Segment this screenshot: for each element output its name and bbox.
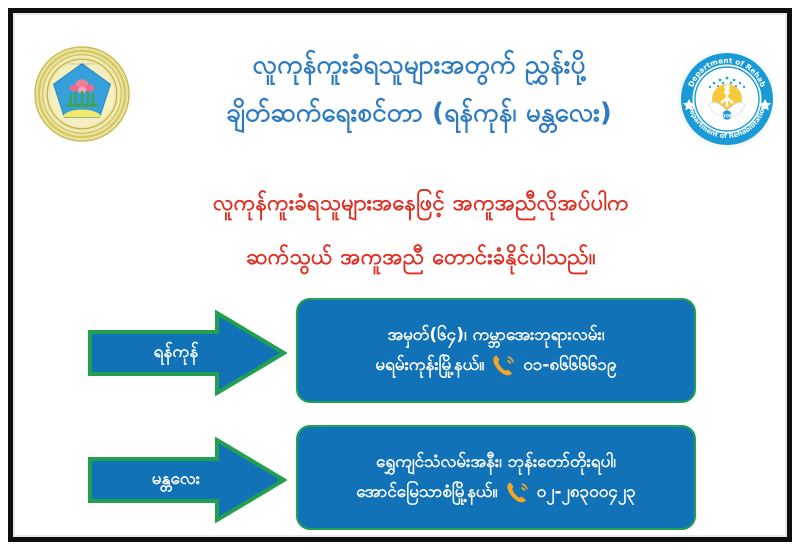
arrow-label-yangon: ရန်ကုန်: [111, 310, 241, 396]
phone-icon: [491, 353, 516, 378]
page-subtitle: လူကုန်ကူးခံရသူများအနေဖြင့် အကူအညီလိုအပ်ပ…: [81, 177, 761, 285]
myanmar-government-seal-icon: •••••••••••••: [33, 45, 131, 145]
address-card-yangon: အမှတ်(၆၄)၊ ကမ္ဘာအေးဘုရားလမ်း၊ မရမ်းကုန်း…: [296, 298, 696, 403]
phone-icon: [505, 480, 530, 505]
poster-frame-inner: •••••••••••••: [13, 13, 787, 537]
title-line-2: ချိတ်ဆက်ရေးစင်တာ (ရန်ကုန်၊ မန္တလေး): [139, 89, 699, 137]
arrow-right-icon-yangon: ရန်ကုန်: [87, 310, 287, 396]
address-line-2-with-phone: မရမ်းကုန်းမြို့နယ်။ ၀၁-၈၆၆၆၆၁၉: [375, 353, 616, 378]
arrow-label-mandalay: မန္တလေး: [111, 437, 241, 523]
address-line-2: အောင်မြေသာစံမြို့နယ်။: [356, 480, 497, 505]
page-title: လူကုန်ကူးခံရသူများအတွက် ညွှန်းပို့ ချိတ်…: [139, 41, 699, 137]
poster-root: •••••••••••••: [0, 0, 800, 550]
arrow-right-icon-mandalay: မန္တလေး: [87, 437, 287, 523]
subtitle-line-1: လူကုန်ကူးခံရသူများအနေဖြင့် အကူအညီလိုအပ်ပ…: [81, 177, 761, 231]
address-line-2: မရမ်းကုန်းမြို့နယ်။: [375, 353, 484, 378]
phone-number-mandalay[interactable]: ၀၂-၂၈၃၀၀၄၂၃: [537, 480, 636, 505]
poster-frame: •••••••••••••: [8, 8, 792, 542]
address-line-1: အမှတ်(၆၄)၊ ကမ္ဘာအေးဘုရားလမ်း၊: [387, 323, 604, 348]
address-line-1: ရွှေကျင်သံလမ်းအနီး၊ ဘုန်းတော်တိုးရပါ၊: [376, 450, 616, 475]
address-card-mandalay: ရွှေကျင်သံလမ်းအနီး၊ ဘုန်းတော်တိုးရပါ၊ အေ…: [296, 425, 696, 530]
poster-canvas: •••••••••••••: [21, 15, 785, 535]
subtitle-line-2: ဆက်သွယ် အကူအညီ တောင်းခံနိုင်ပါသည်။: [81, 231, 761, 285]
title-line-1: လူကုန်ကူးခံရသူများအတွက် ညွှန်းပို့: [139, 41, 699, 89]
contact-row-mandalay: မန္တလေး ရွှေကျင်သံလမ်းအနီး၊ ဘုန်းတော်တို…: [21, 425, 785, 535]
contact-row-yangon: ရန်ကုန် အမှတ်(၆၄)၊ ကမ္ဘာအေးဘုရားလမ်း၊ မရ…: [21, 298, 785, 408]
seal-center-label: DOR: [722, 113, 733, 119]
address-line-2-with-phone: အောင်မြေသာစံမြို့နယ်။ ၀၂-၂၈၃၀၀၄၂၃: [356, 480, 636, 505]
phone-number-yangon[interactable]: ၀၁-၈၆၆၆၆၁၉: [523, 353, 616, 378]
